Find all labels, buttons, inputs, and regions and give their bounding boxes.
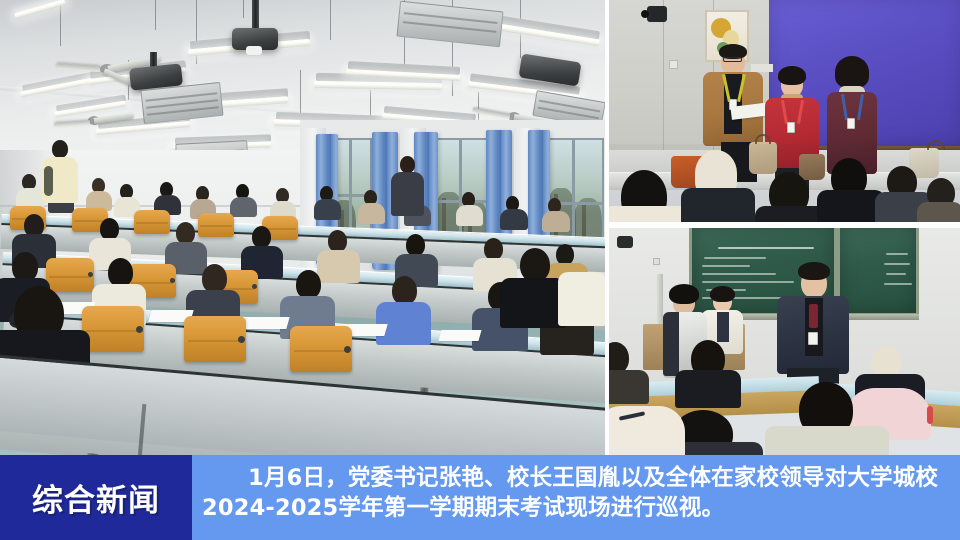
photo-inspection-at-chalkboard-classroom <box>609 228 960 455</box>
wall-switch <box>669 60 678 69</box>
caption-text: 1月6日，党委书记张艳、校长王国胤以及全体在家校领导对大学城校 2024-202… <box>192 455 960 540</box>
hanger-rod <box>300 70 301 118</box>
photo-leaders-addressing-exam-room <box>609 0 960 222</box>
wall-switch <box>653 258 660 265</box>
news-category-tag: 综合新闻 <box>0 455 192 540</box>
chalkboard-right <box>837 228 919 316</box>
photo-lecture-hall-exam-wide <box>0 0 605 455</box>
hanger-rod <box>60 0 61 46</box>
security-camera-icon <box>647 6 667 22</box>
caption-banner: 综合新闻 1月6日，党委书记张艳、校长王国胤以及全体在家校领导对大学城校 202… <box>0 455 960 540</box>
necktie <box>809 304 818 328</box>
hanger-rod <box>155 0 156 30</box>
news-category-label: 综合新闻 <box>32 475 160 520</box>
hanger-rod <box>243 0 244 18</box>
handbag-handle <box>755 134 771 144</box>
hanger-rod <box>330 0 331 40</box>
caption-line-1: 1月6日，党委书记张艳、校长王国胤以及全体在家校领导对大学城校 <box>202 465 938 491</box>
collage-canvas: 综合新闻 1月6日，党委书记张艳、校长王国胤以及全体在家校领导对大学城校 202… <box>0 0 960 540</box>
security-camera-icon <box>617 236 633 248</box>
caption-line-2: 2024-2025学年第一学期期末考试现场进行巡视。 <box>202 494 944 524</box>
wall-plate <box>751 64 773 72</box>
glasses-icon <box>723 57 742 62</box>
water-bottle <box>927 406 933 424</box>
